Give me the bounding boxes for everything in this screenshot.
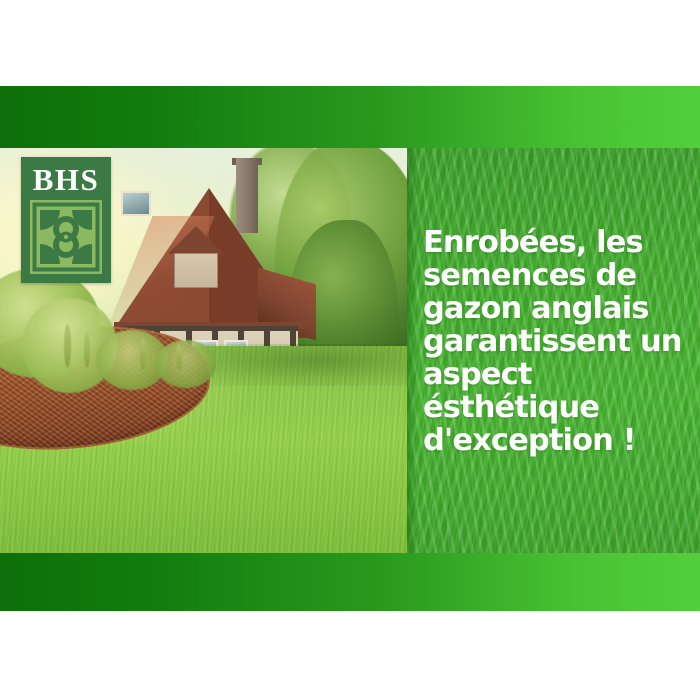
dormer [168, 226, 224, 288]
top-green-banner [0, 86, 700, 148]
bhs-logo-wordmark: BHS [21, 162, 111, 198]
bhs-logo[interactable]: BHS [21, 157, 111, 283]
dormer-body [174, 253, 218, 288]
twig-1 [64, 324, 71, 368]
panel-left-edge-shading [407, 148, 417, 553]
dormer-window [121, 191, 151, 216]
quatrefoil-ornament-icon [30, 200, 102, 274]
dormer-roof [168, 226, 224, 254]
banner-canvas: Enrobées, les semences de gazon anglais … [0, 0, 700, 700]
bottom-green-banner [0, 553, 700, 611]
twig-4 [176, 344, 182, 370]
headline-text: Enrobées, les semences de gazon anglais … [423, 226, 700, 457]
headline-panel: Enrobées, les semences de gazon anglais … [407, 148, 700, 553]
twig-2 [84, 332, 90, 368]
twig-3 [140, 338, 146, 370]
shrub-right [156, 340, 216, 388]
